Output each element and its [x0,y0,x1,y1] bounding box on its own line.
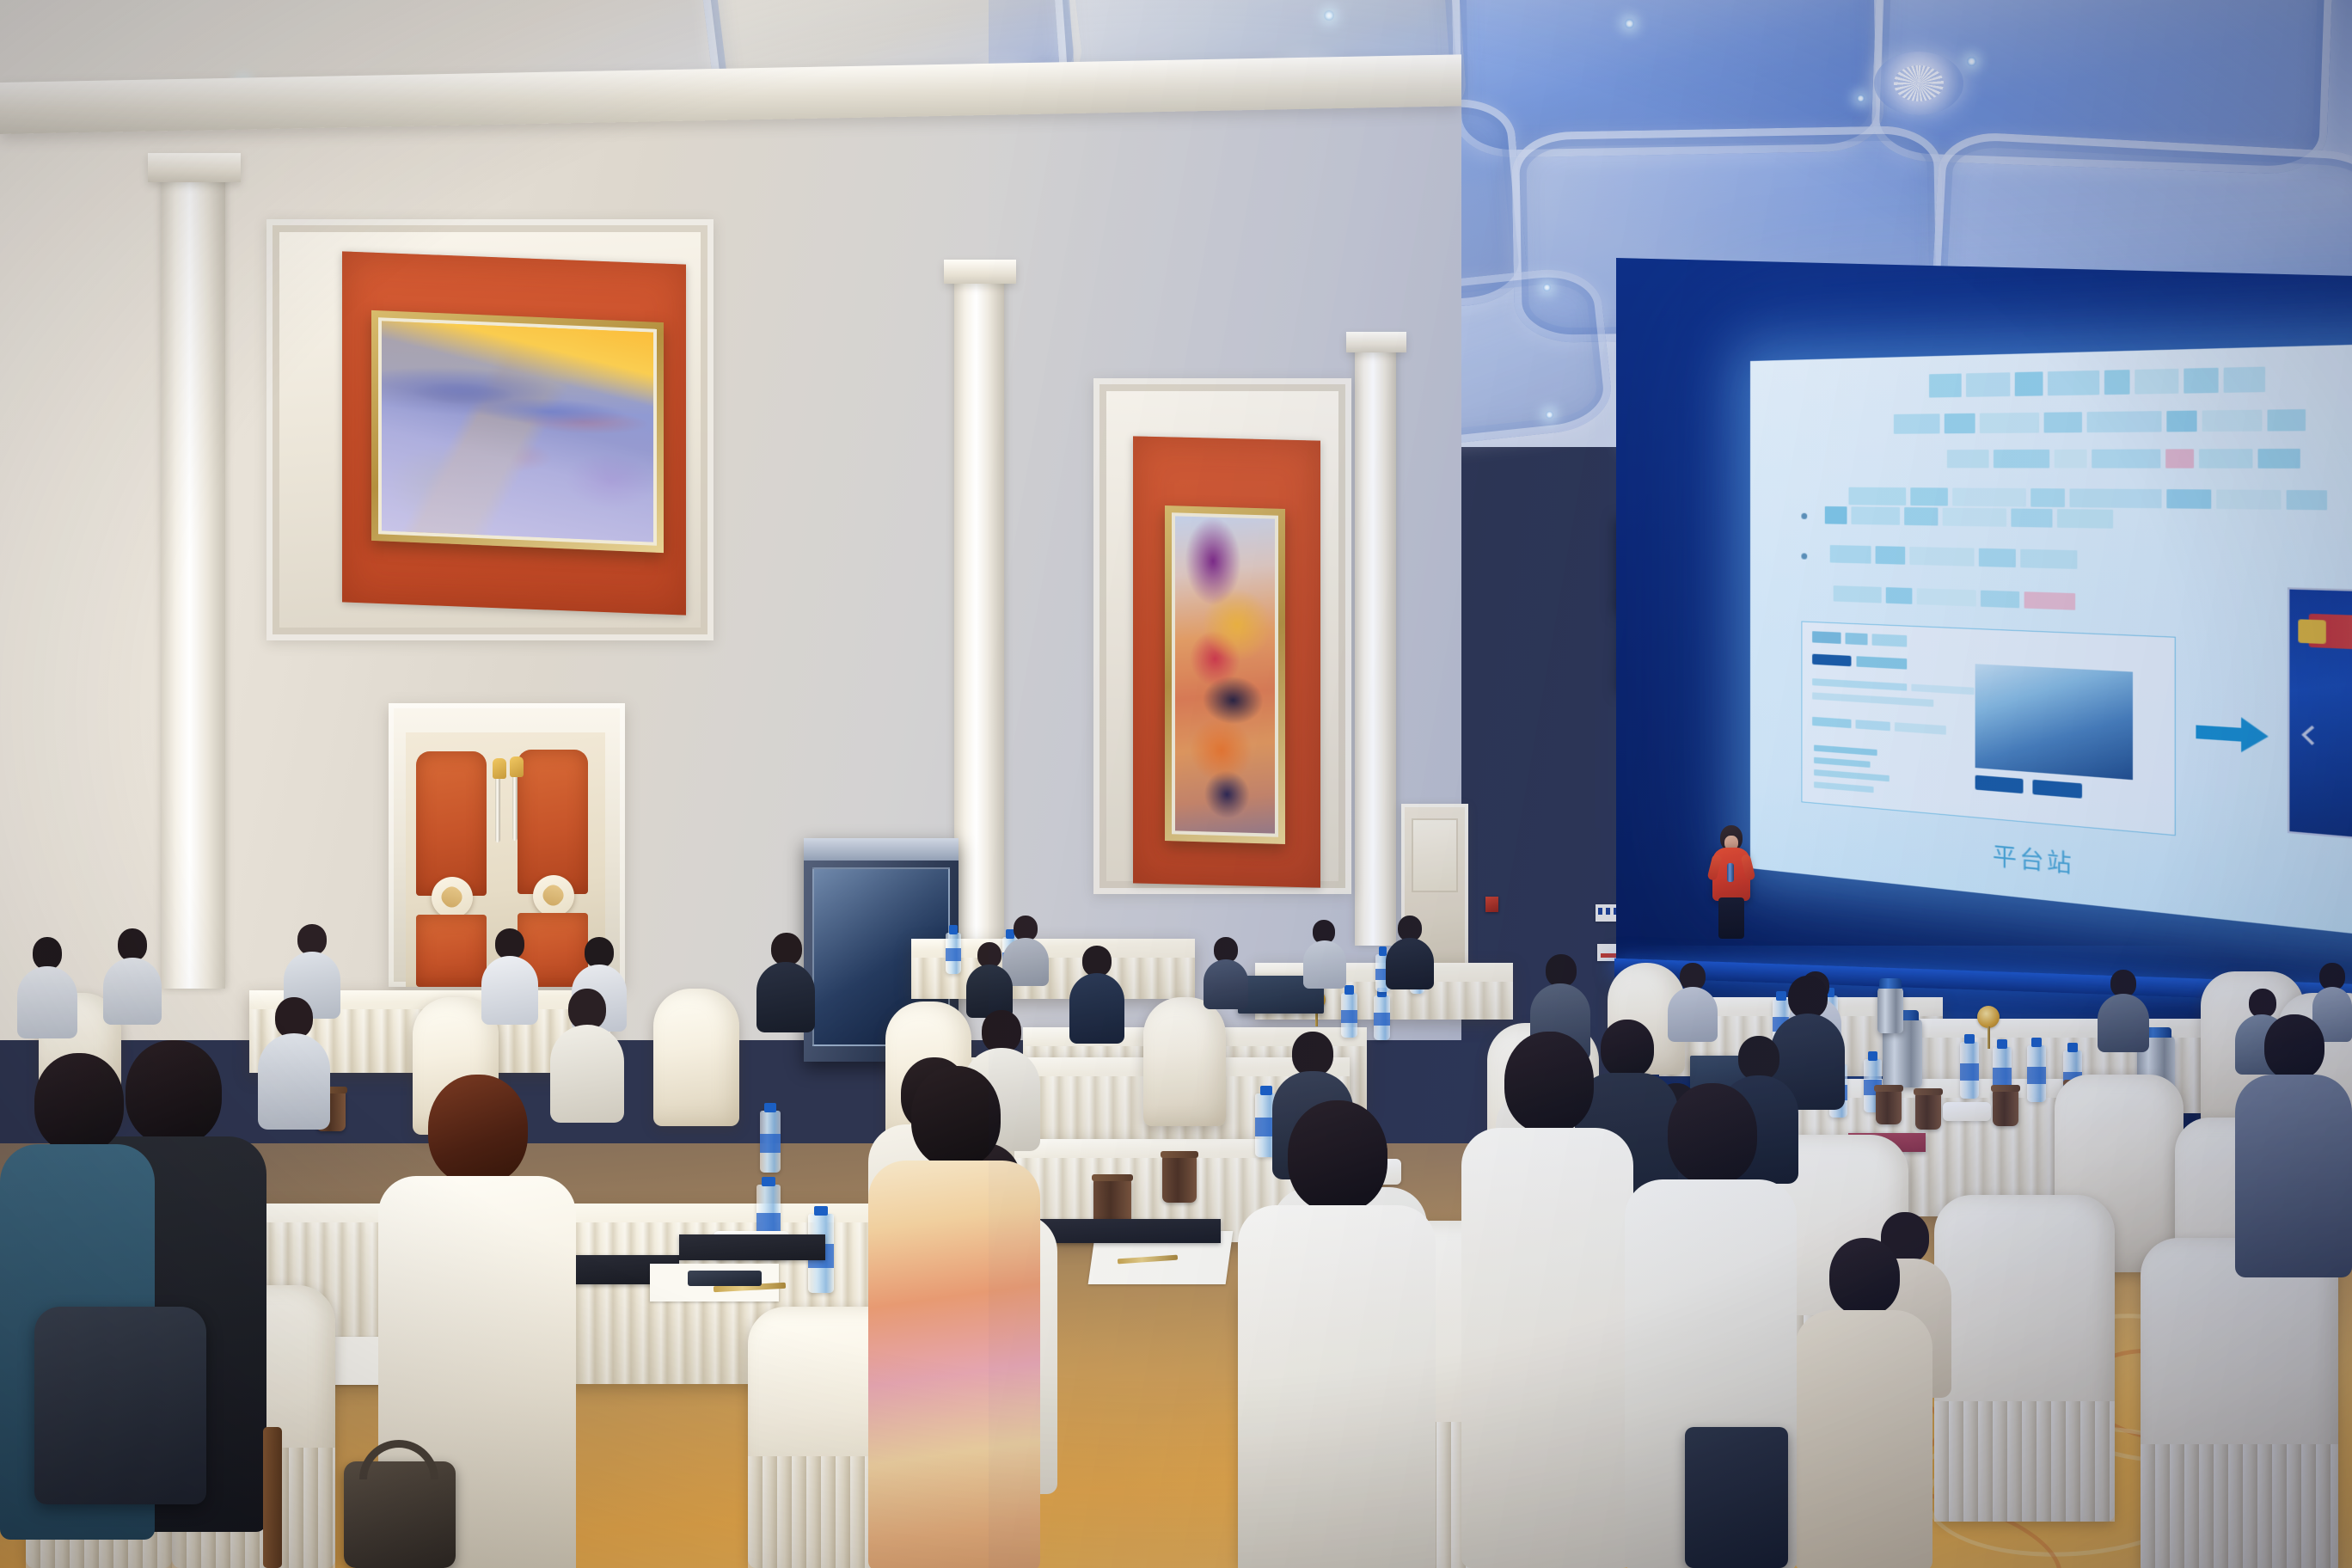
painting-mat-right [1172,512,1278,836]
audience-member [868,1066,1040,1568]
audience-member [1303,920,1346,989]
presenter [1708,825,1755,937]
secondary-door-panel [1412,818,1458,892]
slide-subtext [1834,585,2076,610]
person-torso [1386,938,1434,989]
person-head [1668,1083,1757,1185]
person-head [495,928,524,959]
person-head [428,1075,528,1185]
audience-member [481,928,538,1023]
door-medallion-left [432,877,473,918]
water-bottle[interactable] [2027,1045,2046,1102]
person-head [118,928,147,961]
audience-member [1386,916,1434,989]
thermos-flask[interactable] [1877,987,1903,1033]
pilaster-capital [1346,332,1406,352]
table-number-disc [1977,1006,2000,1028]
water-bottle[interactable] [946,933,961,974]
ceiling-rosette [1874,52,1963,115]
door-panel-upper-left [416,751,487,896]
painting-frame-right [1165,505,1285,844]
person-torso [258,1033,330,1130]
painting-abstract-figure [1175,516,1275,833]
teacup[interactable] [1876,1090,1902,1124]
person-head [1288,1100,1387,1212]
backpack [34,1307,206,1504]
table-number-stick [1988,1026,1990,1049]
person-head [275,997,313,1038]
person-torso [1238,1205,1436,1568]
ceiling-downlight [1625,19,1634,28]
card-tag-badge [1812,654,1851,667]
audience-member [1069,946,1124,1040]
person-head [982,1010,1021,1053]
fire-alarm-icon [1485,897,1498,912]
door-panel-lower-left [416,915,487,987]
arrow-right-icon [2196,713,2270,756]
person-head [1829,1238,1900,1315]
cooler-top-panel [804,838,959,861]
notepad[interactable] [1040,1219,1221,1243]
person-head [33,937,62,970]
card-line [1812,692,1933,707]
ceiling-downlight [1324,10,1334,21]
teacup[interactable] [1162,1156,1197,1203]
water-bottle[interactable] [1960,1042,1979,1099]
person-torso [1204,959,1248,1009]
covered-chair[interactable] [1934,1195,2115,1522]
pilaster-capital [944,260,1016,284]
wall-pilaster [162,172,225,989]
conference-hall-photo: 平台站 [0,0,2352,1568]
handheld-microphone [1727,863,1734,882]
projection-screen: 平台站 [1750,341,2352,946]
person-head [2249,989,2276,1018]
card-button-book[interactable] [2032,780,2082,799]
audience-member [1238,1100,1436,1568]
phone-badge [2298,619,2326,644]
card-button-consult[interactable] [1975,775,2024,794]
person-head [568,989,606,1030]
slide-phone-mockup [2288,587,2352,848]
covered-chair[interactable] [2141,1238,2338,1568]
notepad[interactable] [679,1234,825,1260]
teacup[interactable] [1993,1090,2018,1126]
person-head [585,937,614,968]
water-bottle[interactable] [760,1111,781,1173]
slide-text-blocks [1894,409,2306,434]
door-handle-right[interactable] [512,772,518,841]
door-panel-upper-right [518,750,588,894]
pilaster-capital [148,153,241,182]
chair-wood-frame [263,1427,282,1568]
slide-embedded-card [1801,621,2175,836]
covered-chair[interactable] [653,989,739,1126]
person-torso [103,958,162,1025]
covered-chair[interactable] [1143,997,1226,1126]
person-head [1788,976,1828,1019]
person-torso [1795,1310,1932,1568]
slide-title-blocks [1929,367,2265,398]
person-head [2264,1014,2324,1080]
slide-caption: 平台站 [1993,838,2074,880]
audience-member [1461,1032,1633,1565]
audience-member [2235,1014,2352,1272]
water-bottle[interactable] [1374,995,1390,1040]
audience-member [756,933,815,1029]
presenter-trousers [1718,897,1744,939]
slide-bullet-text-1 [1825,506,2113,529]
chair-skirt [1934,1401,2115,1522]
person-torso [17,966,77,1038]
slide-bullet-1 [1801,513,1807,519]
painting-frame-left [371,310,664,553]
person-head [1082,946,1112,977]
card-list [1814,744,1877,756]
audience-member [258,997,330,1126]
chair-skirt [2141,1444,2338,1568]
door-handle-left[interactable] [495,774,500,842]
audience-member [2098,970,2149,1050]
painting-mat-left [378,317,657,546]
person-head [771,933,802,965]
person-head [1504,1032,1594,1133]
person-torso [481,956,538,1025]
card-thumbnail-photo [1975,664,2133,780]
card-stats [1812,717,1946,735]
phone-chevron-left-icon [2301,726,2323,745]
person-head [1738,1036,1779,1081]
person-head [911,1066,1001,1167]
ceiling-downlight [1543,284,1551,291]
ceiling-downlight [1546,411,1553,419]
napkin [1943,1102,1991,1121]
audience-member [103,928,162,1023]
audience-member [1795,1238,1932,1568]
card-list [1814,781,1874,793]
wall-pilaster [1355,344,1396,946]
person-head [1546,954,1577,987]
handbag [1685,1427,1788,1568]
person-head [297,924,327,955]
card-list [1814,769,1890,781]
person-torso [756,962,815,1032]
person-torso [1303,940,1346,989]
person-torso [2098,994,2149,1052]
person-torso [2235,1075,2352,1277]
person-torso [1461,1128,1633,1568]
teacup[interactable] [1915,1093,1941,1130]
ceiling-downlight [1857,95,1865,102]
person-head [34,1053,124,1153]
audience-member [1204,937,1248,1008]
wall-pilaster [954,275,1004,946]
audience-member [17,937,77,1037]
card-title [1812,631,1907,646]
ceiling-downlight [1967,57,1976,66]
card-tag-text [1856,656,1907,669]
door-medallion-right [533,875,574,916]
card-line [1812,678,1974,695]
slide-bullet-text-2 [1830,545,2078,569]
audience-member [966,942,1013,1016]
person-torso [1069,973,1124,1044]
slide-bullet-2 [1801,553,1807,559]
painting-abstract-landscape [382,321,653,542]
smartphone[interactable] [688,1271,762,1286]
person-torso [868,1161,1040,1568]
person-head [1292,1032,1333,1076]
card-list [1814,757,1870,768]
slide-text-blocks [1947,449,2300,469]
